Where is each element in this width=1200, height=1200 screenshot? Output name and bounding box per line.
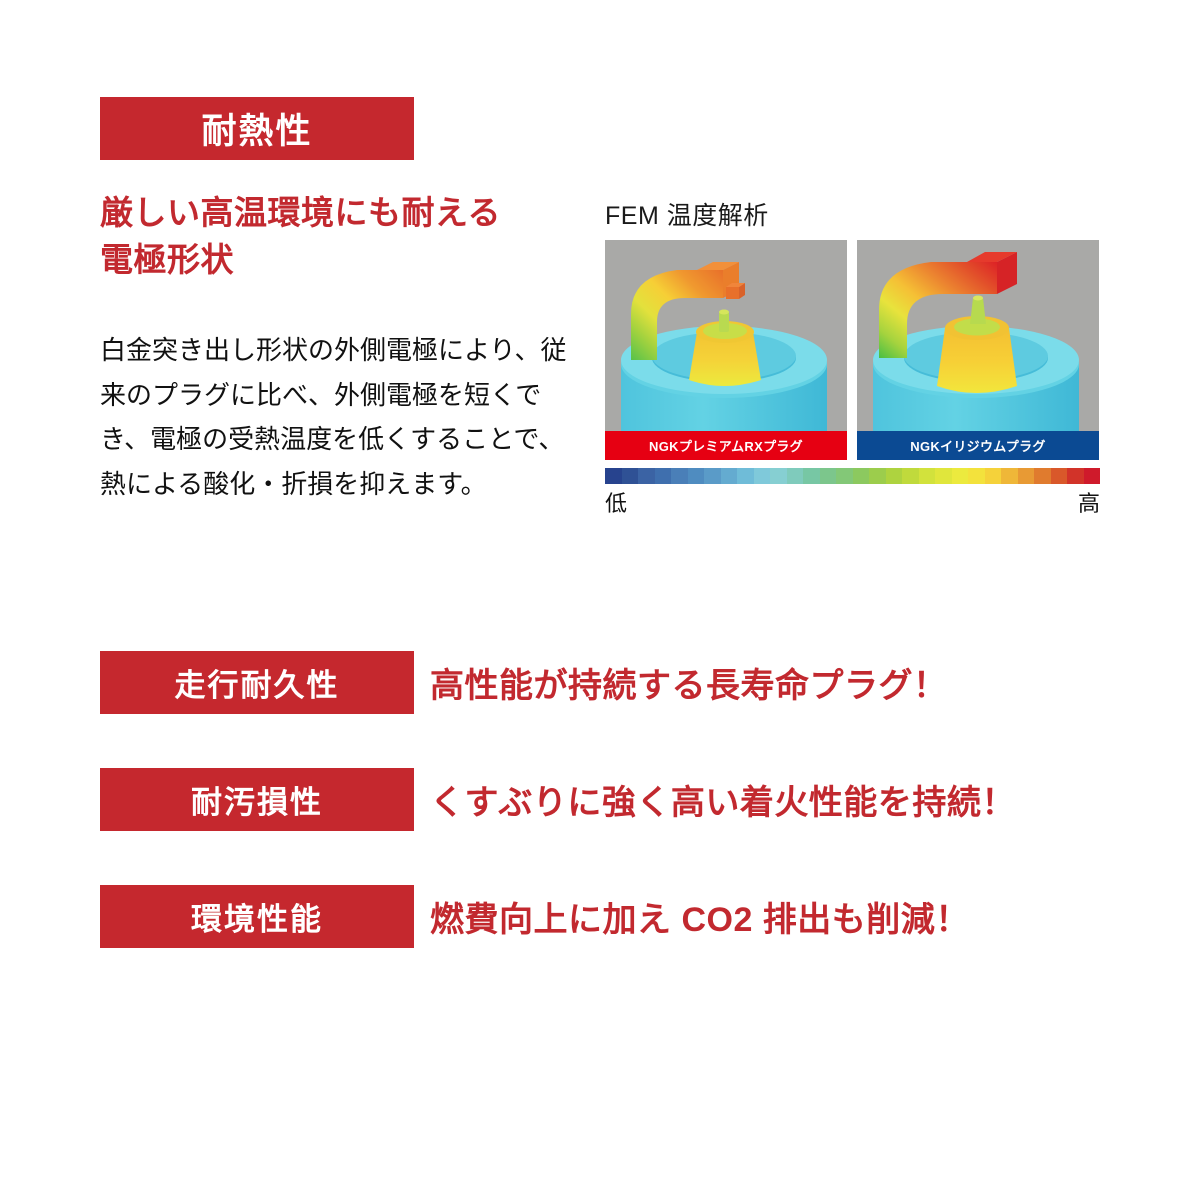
fem-thermal-image-premium-rx <box>605 240 847 460</box>
feature-badge-fouling-resistance: 耐汚損性 <box>100 768 414 831</box>
scale-band-23 <box>985 468 1002 484</box>
temperature-color-scale <box>605 468 1100 484</box>
scale-band-15 <box>853 468 870 484</box>
feature-badge-durability: 走行耐久性 <box>100 651 414 714</box>
scale-band-5 <box>688 468 705 484</box>
scale-band-24 <box>1001 468 1018 484</box>
scale-band-18 <box>902 468 919 484</box>
fem-card-iridium: NGKイリジウムプラグ <box>857 240 1099 460</box>
headline: 厳しい高温環境にも耐える電極形状 <box>100 190 570 284</box>
scale-band-20 <box>935 468 952 484</box>
feature-text-durability: 高性能が持続する長寿命プラグ！ <box>430 651 948 714</box>
scale-band-28 <box>1067 468 1084 484</box>
scale-band-4 <box>671 468 688 484</box>
fem-card-label-iridium: NGKイリジウムプラグ <box>857 431 1099 460</box>
scale-band-9 <box>754 468 771 484</box>
scale-band-17 <box>886 468 903 484</box>
temperature-scale-labels: 低 高 <box>605 486 1100 518</box>
section-badge-heat-resistance: 耐熱性 <box>100 97 414 160</box>
scale-band-14 <box>836 468 853 484</box>
scale-band-25 <box>1018 468 1035 484</box>
scale-band-3 <box>655 468 672 484</box>
fem-image-row: NGKプレミアムRXプラグ <box>605 240 1100 460</box>
fem-card-premium-rx: NGKプレミアムRXプラグ <box>605 240 847 460</box>
fem-thermal-image-iridium <box>857 240 1099 460</box>
scale-band-16 <box>869 468 886 484</box>
scale-band-10 <box>770 468 787 484</box>
scale-band-7 <box>721 468 738 484</box>
scale-low-label: 低 <box>605 486 627 518</box>
scale-high-label: 高 <box>1078 486 1100 518</box>
scale-band-8 <box>737 468 754 484</box>
scale-band-19 <box>919 468 936 484</box>
fem-card-label-premium-rx: NGKプレミアムRXプラグ <box>605 431 847 460</box>
promo-page: 耐熱性 厳しい高温環境にも耐える電極形状 白金突き出し形状の外側電極により、従来… <box>0 0 1200 1200</box>
scale-band-29 <box>1084 468 1101 484</box>
scale-band-11 <box>787 468 804 484</box>
feature-text-environmental: 燃費向上に加え CO2 排出も削減！ <box>430 885 970 948</box>
scale-band-1 <box>622 468 639 484</box>
scale-band-12 <box>803 468 820 484</box>
scale-band-21 <box>952 468 969 484</box>
feature-badge-environmental: 環境性能 <box>100 885 414 948</box>
fem-analysis-block: FEM 温度解析 <box>605 196 1100 518</box>
scale-band-0 <box>605 468 622 484</box>
scale-band-26 <box>1034 468 1051 484</box>
feature-text-fouling-resistance: くすぶりに強く高い着火性能を持続！ <box>430 768 1016 831</box>
scale-band-22 <box>968 468 985 484</box>
scale-band-6 <box>704 468 721 484</box>
scale-band-27 <box>1051 468 1068 484</box>
body-paragraph: 白金突き出し形状の外側電極により、従来のプラグに比べ、外側電極を短くでき、電極の… <box>100 328 590 507</box>
scale-band-2 <box>638 468 655 484</box>
scale-band-13 <box>820 468 837 484</box>
fem-title: FEM 温度解析 <box>605 196 1100 232</box>
